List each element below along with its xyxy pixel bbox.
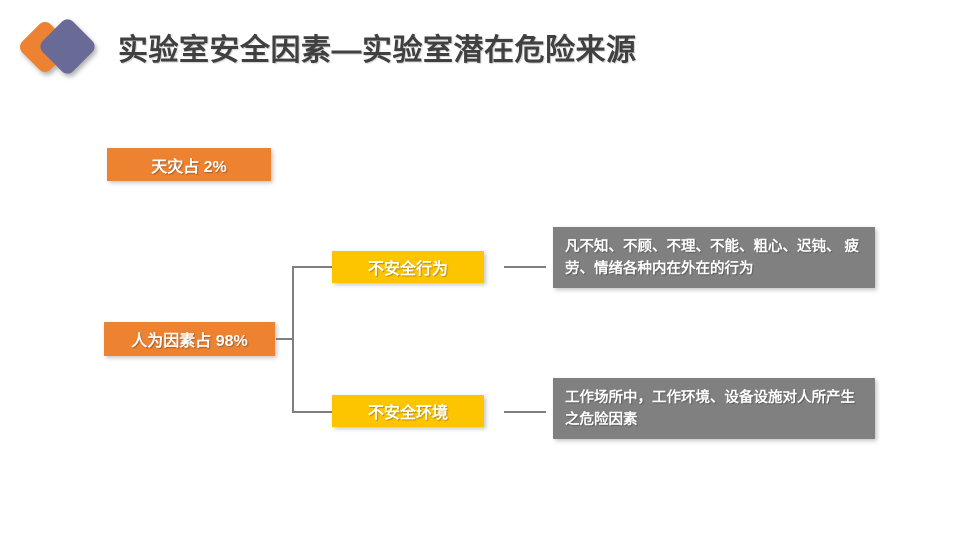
- node-unsafe-environment[interactable]: 不安全环境: [332, 395, 484, 427]
- node-unsafe-behavior-detail[interactable]: 凡不知、不顾、不理、不能、粗心、迟钝、 疲劳、情绪各种内在外在的行为: [553, 227, 875, 288]
- node-natural-disaster[interactable]: 天灾占 2%: [107, 148, 271, 181]
- overlapping-diamonds-logo-icon: [16, 10, 108, 86]
- connector-human-factor-stub: [276, 338, 293, 340]
- connector-bracket-top-branch: [292, 266, 332, 268]
- connector-bracket-bottom-branch: [292, 411, 332, 413]
- connector-unsafe-behavior-to-detail: [504, 266, 546, 268]
- page-title: 实验室安全因素—实验室潜在危险来源: [118, 25, 637, 69]
- node-unsafe-behavior[interactable]: 不安全行为: [332, 251, 484, 283]
- node-unsafe-environment-detail[interactable]: 工作场所中，工作环境、设备设施对人所产生之危险因素: [553, 378, 875, 439]
- connector-bracket-spine: [292, 266, 294, 412]
- node-human-factor[interactable]: 人为因素占 98%: [104, 322, 275, 356]
- connector-unsafe-environment-to-detail: [504, 411, 546, 413]
- slide-canvas: 实验室安全因素—实验室潜在危险来源 天灾占 2% 人为因素占 98% 不安全行为…: [0, 0, 960, 540]
